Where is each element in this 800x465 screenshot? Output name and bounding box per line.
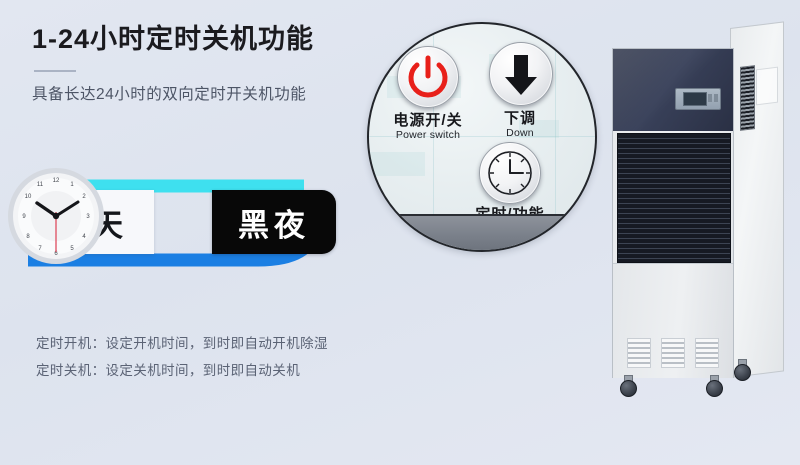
- arrow-down-icon: [490, 43, 552, 105]
- unit-top-panel: [613, 49, 733, 131]
- caster-1: [620, 380, 637, 397]
- night-label: 黑夜: [238, 200, 310, 245]
- svg-text:11: 11: [37, 182, 44, 188]
- unit-lcd-screen: [683, 92, 707, 106]
- unit-bottom-vent-1: [627, 338, 651, 368]
- unit-bottom-vent-2: [661, 338, 685, 368]
- down-label-cn: 下调: [481, 110, 559, 127]
- power-button-label: 电源开/关 Power switch: [367, 112, 489, 142]
- caster-3: [734, 364, 751, 381]
- page-subtitle: 具备长达24小时的双向定时开关机功能: [32, 85, 392, 105]
- down-label-en: Down: [481, 127, 559, 140]
- night-pill: 黑夜: [212, 190, 336, 254]
- unit-bottom-vent-3: [695, 338, 719, 368]
- headline-block: 1-24小时定时关机功能 具备长达24小时的双向定时开关机功能: [32, 22, 392, 105]
- unit-front-body: [612, 48, 734, 378]
- bullet-timer-on: 定时开机：设定开机时间，到时即自动开机除湿: [36, 330, 416, 357]
- unit-intake-grille: [617, 133, 731, 263]
- unit-lower-body: [613, 263, 733, 378]
- down-button-label: 下调 Down: [481, 110, 559, 140]
- timing-function-button[interactable]: [479, 142, 541, 204]
- page-title: 1-24小时定时关机功能: [32, 22, 392, 56]
- down-button[interactable]: [489, 42, 553, 106]
- power-label-cn: 电源开/关: [367, 112, 489, 129]
- panel-edge-band: [367, 214, 597, 250]
- power-icon: [398, 47, 458, 107]
- unit-display-key-1[interactable]: [708, 94, 712, 102]
- clock-icon: [480, 143, 540, 203]
- power-button[interactable]: [397, 46, 459, 108]
- svg-text:10: 10: [25, 194, 32, 200]
- day-night-cycle-banner: 白天 黑夜 121 23 45 67 89 1011: [6, 166, 356, 278]
- unit-display-key-2[interactable]: [714, 94, 718, 102]
- control-panel-magnifier: 电源开/关 Power switch 下调 Down 定时/功能 Timing/…: [367, 22, 597, 252]
- power-label-en: Power switch: [367, 129, 489, 142]
- unit-side-sticker: [756, 67, 778, 106]
- unit-display-panel[interactable]: [675, 88, 721, 110]
- dehumidifier-unit: [600, 28, 785, 428]
- feature-bullets: 定时开机：设定开机时间，到时即自动开机除湿 定时关机：设定关机时间，到时即自动关…: [36, 330, 416, 384]
- title-divider: [34, 70, 76, 72]
- unit-side-vent: [740, 65, 755, 131]
- bullet-timer-off: 定时关机：设定关机时间，到时即自动关机: [36, 357, 416, 384]
- analog-clock-icon: 121 23 45 67 89 1011: [6, 166, 106, 266]
- caster-2: [706, 380, 723, 397]
- svg-text:12: 12: [53, 178, 60, 184]
- product-feature-banner: 1-24小时定时关机功能 具备长达24小时的双向定时开关机功能 白天 黑夜: [0, 0, 800, 465]
